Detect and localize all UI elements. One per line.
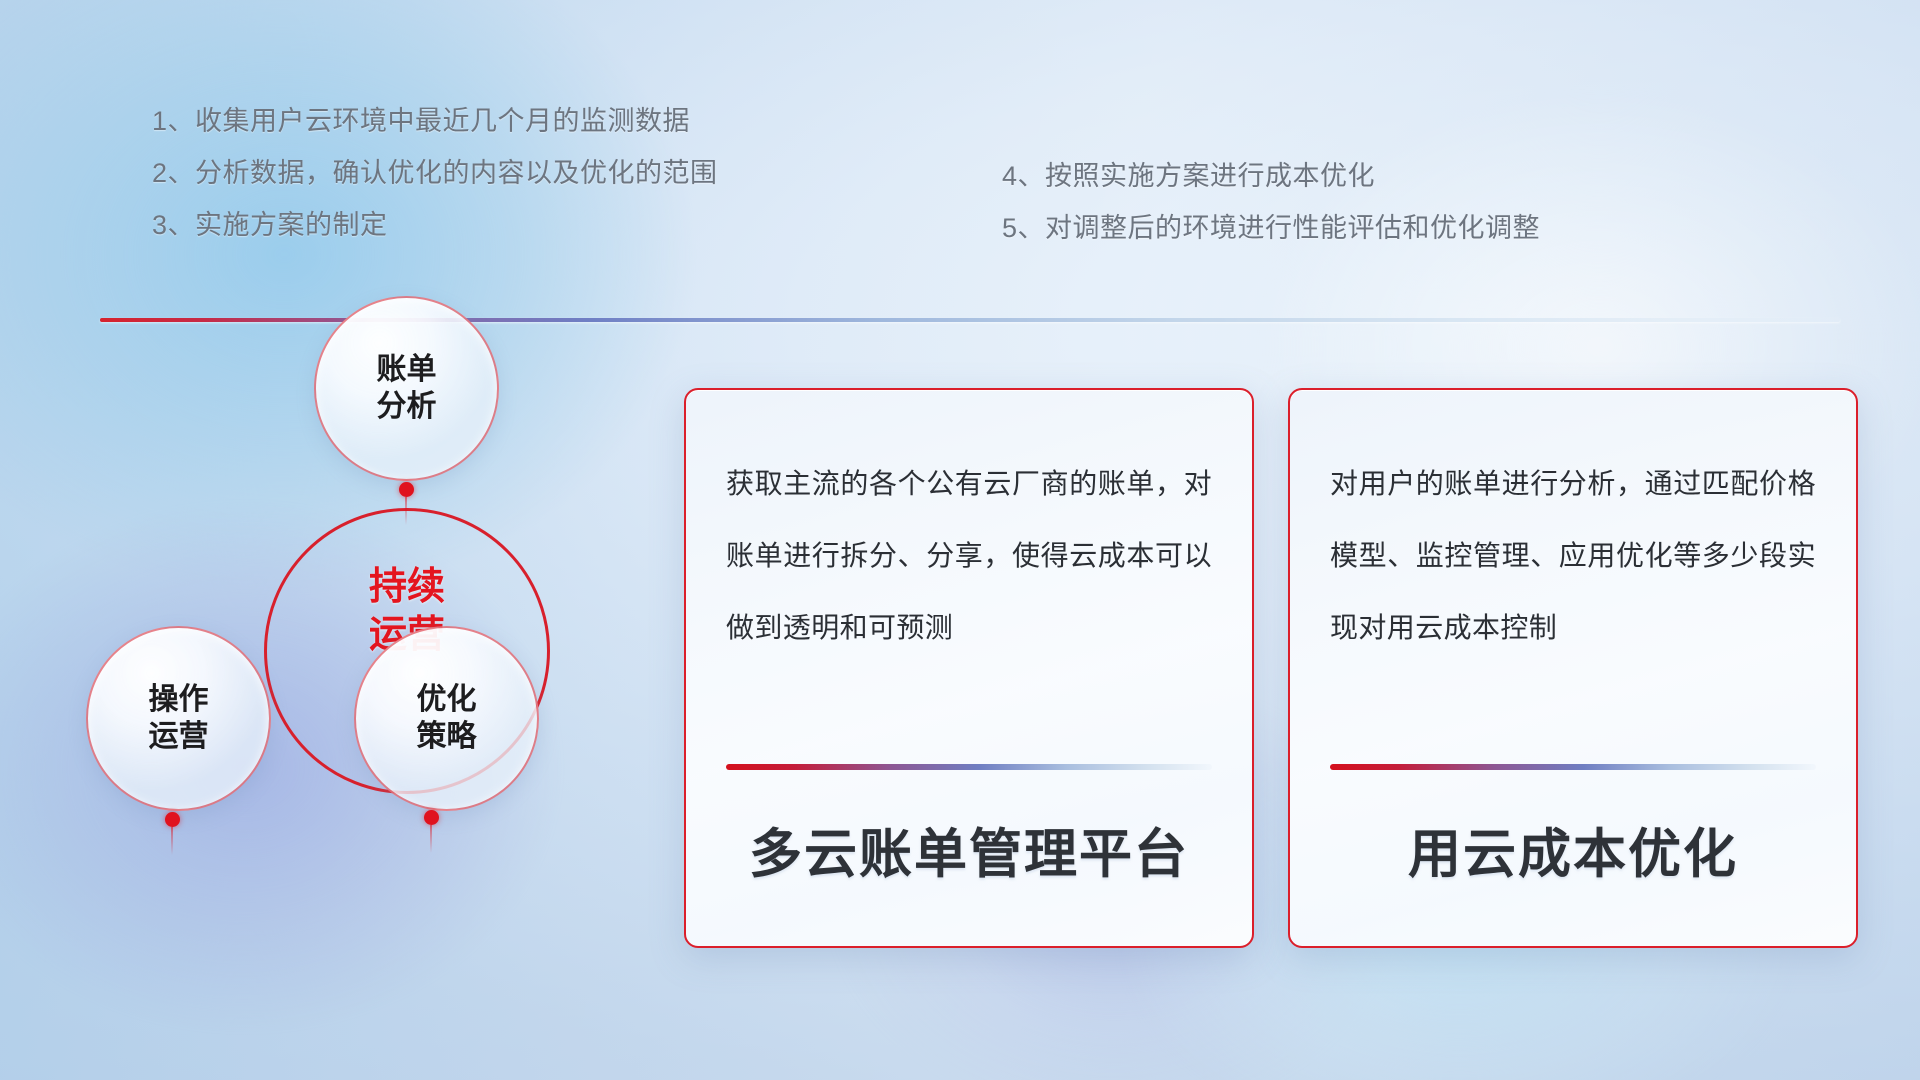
diagram-node-dot-right: [424, 810, 439, 825]
card-body-text: 对用户的账单进行分析，通过匹配价格模型、监控管理、应用优化等多少段实现对用云成本…: [1330, 448, 1816, 664]
bubble-label-line-2: 运营: [149, 719, 209, 756]
step-item-3: 3、实施方案的制定: [152, 199, 718, 251]
bubble-label-line-2: 策略: [417, 719, 477, 756]
diagram-node-tail-top: [405, 497, 407, 525]
diagram-bubble-operations[interactable]: 操作 运营: [86, 626, 271, 811]
diagram-node-dot-top: [399, 482, 414, 497]
steps-column-left: 1、收集用户云环境中最近几个月的监测数据 2、分析数据，确认优化的内容以及优化的…: [152, 95, 718, 251]
bubble-label-line-1: 账单: [377, 352, 437, 389]
process-steps-header: 1、收集用户云环境中最近几个月的监测数据 2、分析数据，确认优化的内容以及优化的…: [0, 0, 1920, 300]
diagram-node-tail-right: [430, 825, 432, 853]
card-body-text: 获取主流的各个公有云厂商的账单，对账单进行拆分、分享，使得云成本可以做到透明和可…: [726, 448, 1212, 664]
center-label-line-1: 持续: [264, 564, 550, 612]
card-divider: [726, 764, 1212, 770]
step-item-4: 4、按照实施方案进行成本优化: [1002, 150, 1540, 202]
card-divider: [1330, 764, 1816, 770]
steps-column-right: 4、按照实施方案进行成本优化 5、对调整后的环境进行性能评估和优化调整: [1002, 150, 1540, 254]
diagram-bubble-optimization-strategy[interactable]: 优化 策略: [354, 626, 539, 811]
step-item-2: 2、分析数据，确认优化的内容以及优化的范围: [152, 147, 718, 199]
step-item-1: 1、收集用户云环境中最近几个月的监测数据: [152, 95, 718, 147]
bubble-label-line-1: 操作: [149, 682, 209, 719]
card-title: 多云账单管理平台: [686, 812, 1252, 888]
bubble-label-line-2: 分析: [377, 389, 437, 426]
feature-card-multicloud-billing[interactable]: 获取主流的各个公有云厂商的账单，对账单进行拆分、分享，使得云成本可以做到透明和可…: [684, 388, 1254, 948]
diagram-node-dot-left: [165, 812, 180, 827]
card-title: 用云成本优化: [1290, 812, 1856, 888]
step-item-5: 5、对调整后的环境进行性能评估和优化调整: [1002, 202, 1540, 254]
feature-card-cloud-cost-optimization[interactable]: 对用户的账单进行分析，通过匹配价格模型、监控管理、应用优化等多少段实现对用云成本…: [1288, 388, 1858, 948]
diagram-node-tail-left: [171, 827, 173, 855]
bubble-label-line-1: 优化: [417, 682, 477, 719]
diagram-bubble-bill-analysis[interactable]: 账单 分析: [314, 296, 499, 481]
continuous-operation-diagram: 持续 运营 账单 分析 操作 运营 优化 策略: [96, 348, 616, 958]
